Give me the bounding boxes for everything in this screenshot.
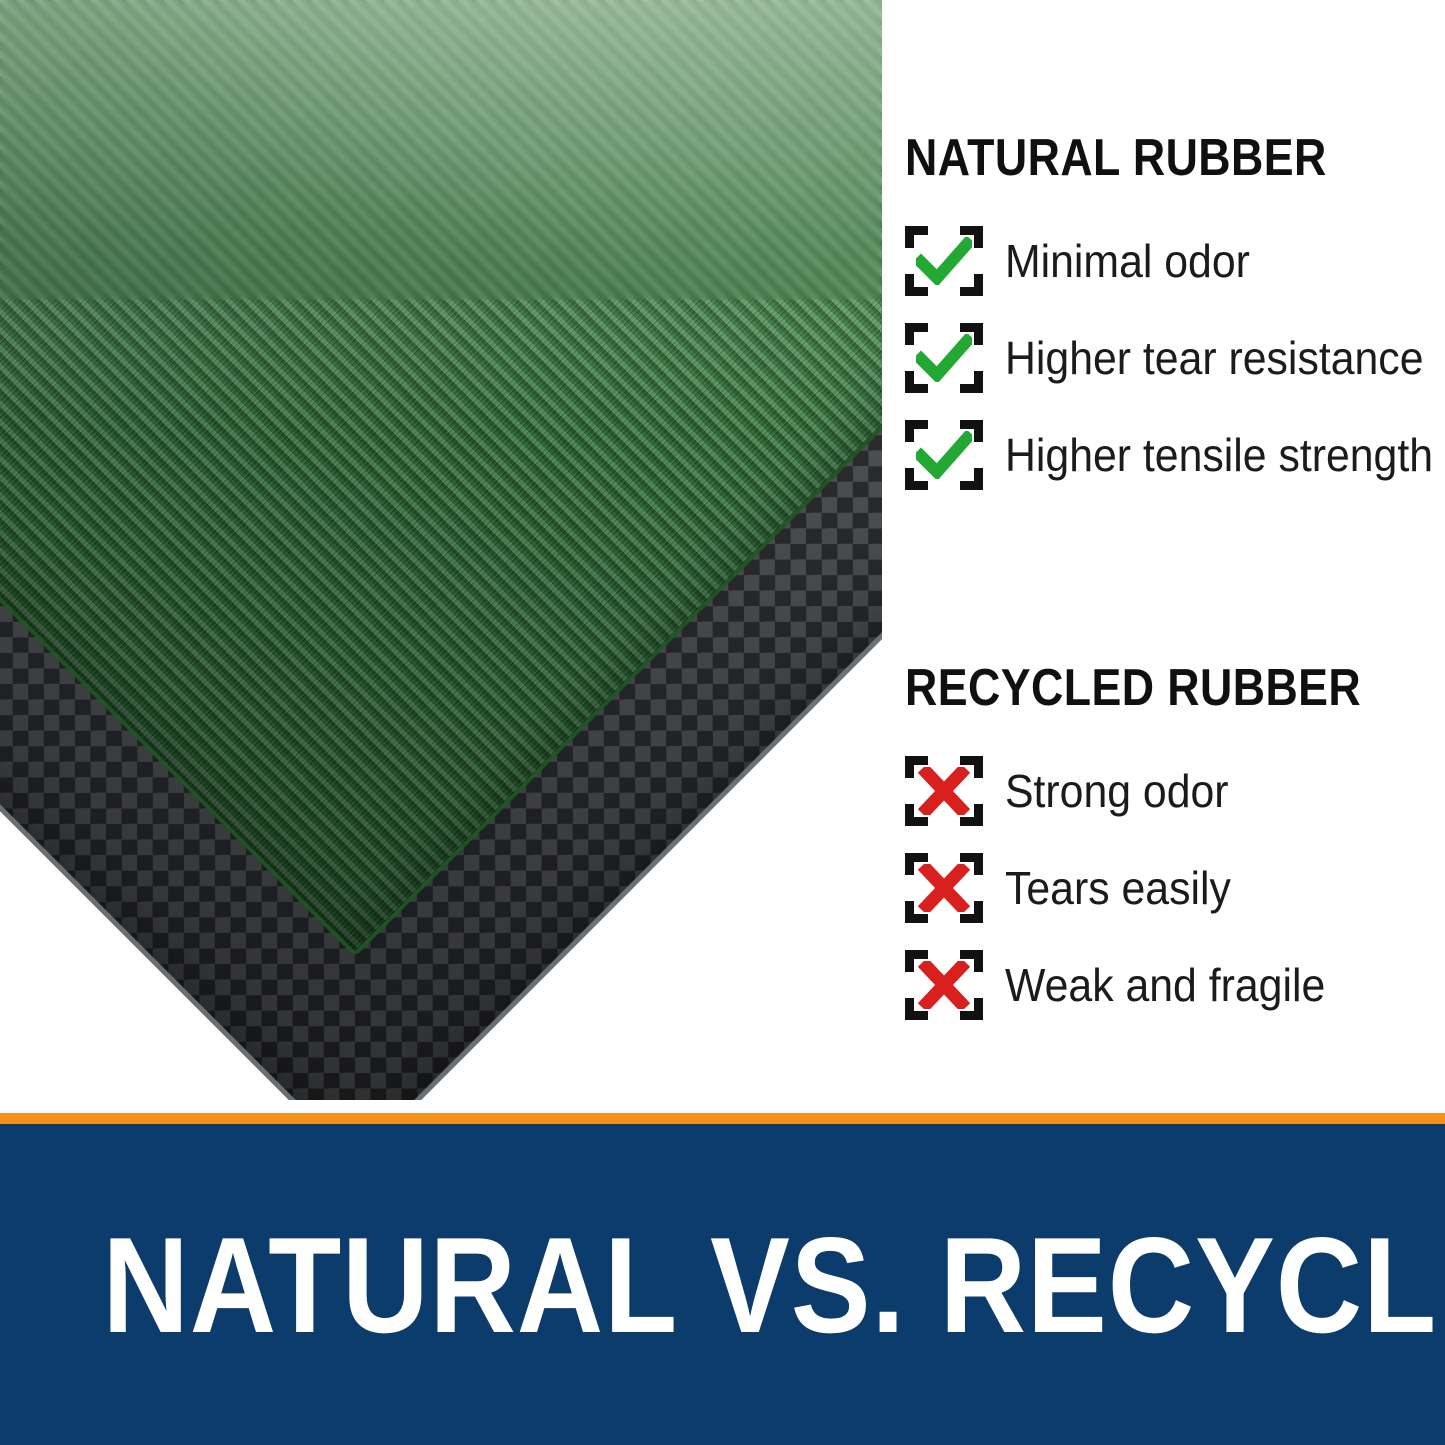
infographic-root: NATURAL RUBBER Minimal odor	[0, 0, 1445, 1445]
group-title-recycled: RECYCLED RUBBER	[905, 660, 1369, 716]
feature-label: Higher tear resistance	[1005, 333, 1423, 383]
feature-row: Higher tensile strength	[905, 406, 1445, 503]
cross-mark-glyph	[916, 767, 972, 815]
feature-label: Higher tensile strength	[1005, 430, 1433, 480]
cross-icon	[905, 950, 983, 1020]
check-icon	[905, 226, 983, 296]
cross-mark-glyph	[916, 864, 972, 912]
feature-row: Weak and fragile	[905, 936, 1445, 1033]
banner-title: NATURAL VS. RECYCLED	[0, 1215, 1445, 1355]
check-mark-glyph	[916, 334, 972, 382]
cross-icon	[905, 853, 983, 923]
door-mat-illustration	[0, 0, 882, 1100]
cross-mark-glyph	[916, 961, 972, 1009]
check-mark-glyph	[916, 431, 972, 479]
feature-label: Tears easily	[1005, 863, 1231, 913]
feature-list-natural: Minimal odor Higher tear resistance	[905, 212, 1445, 503]
accent-divider-bar	[0, 1113, 1445, 1124]
feature-label: Minimal odor	[1005, 236, 1250, 286]
check-mark-glyph	[916, 237, 972, 285]
feature-label: Strong odor	[1005, 766, 1229, 816]
feature-row: Minimal odor	[905, 212, 1445, 309]
check-icon	[905, 323, 983, 393]
feature-row: Higher tear resistance	[905, 309, 1445, 406]
group-title-natural: NATURAL RUBBER	[905, 130, 1369, 186]
cross-icon	[905, 756, 983, 826]
group-natural-rubber: NATURAL RUBBER Minimal odor	[905, 130, 1445, 503]
feature-row: Tears easily	[905, 839, 1445, 936]
banner-title-text: NATURAL VS. RECYCLED	[102, 1215, 1445, 1355]
bottom-banner: NATURAL VS. RECYCLED	[0, 1124, 1445, 1445]
feature-list-recycled: Strong odor Tears easily	[905, 742, 1445, 1033]
feature-label: Weak and fragile	[1005, 960, 1325, 1010]
group-recycled-rubber: RECYCLED RUBBER Strong odor	[905, 660, 1445, 1033]
product-photo	[0, 0, 882, 1100]
comparison-panel: NATURAL RUBBER Minimal odor	[905, 0, 1445, 1100]
check-icon	[905, 420, 983, 490]
feature-row: Strong odor	[905, 742, 1445, 839]
